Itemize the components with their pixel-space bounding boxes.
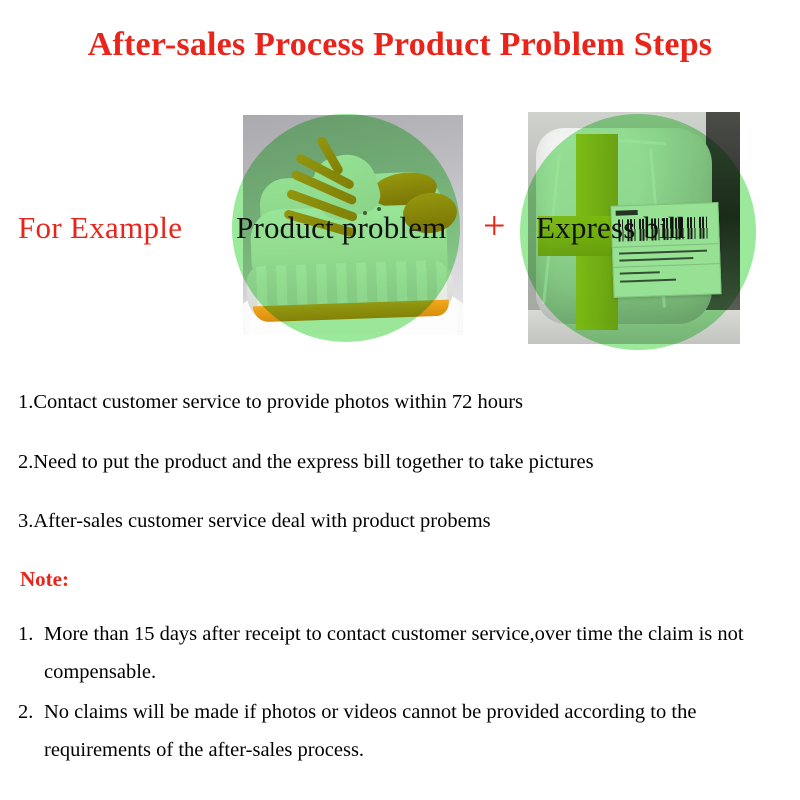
note-heading: Note:	[20, 567, 69, 592]
for-example-label: For Example	[18, 210, 182, 246]
plus-icon: +	[483, 206, 506, 246]
note-item-text: More than 15 days after receipt to conta…	[44, 623, 744, 683]
step-item: 3.After-sales customer service deal with…	[18, 511, 788, 532]
steps-list: 1.Contact customer service to provide ph…	[18, 392, 788, 571]
example-row: For Example	[0, 110, 800, 345]
product-problem-caption: Product problem	[236, 210, 447, 246]
page-title: After-sales Process Product Problem Step…	[0, 26, 800, 64]
step-item: 1.Contact customer service to provide ph…	[18, 392, 788, 413]
note-item-number: 1.	[18, 615, 33, 653]
label-text-line	[619, 257, 693, 262]
note-item-text: No claims will be made if photos or vide…	[44, 701, 696, 761]
note-item: 1. More than 15 days after receipt to co…	[18, 615, 793, 691]
note-item-number: 2.	[18, 693, 33, 731]
label-text-line	[620, 279, 676, 283]
express-bill-caption: Express bill	[536, 210, 686, 246]
label-text-line	[620, 271, 660, 274]
step-item: 2.Need to put the product and the expres…	[18, 452, 788, 473]
label-divider	[614, 263, 720, 268]
note-list: 1. More than 15 days after receipt to co…	[18, 615, 793, 771]
label-text-line	[619, 250, 707, 255]
note-item: 2. No claims will be made if photos or v…	[18, 693, 793, 769]
